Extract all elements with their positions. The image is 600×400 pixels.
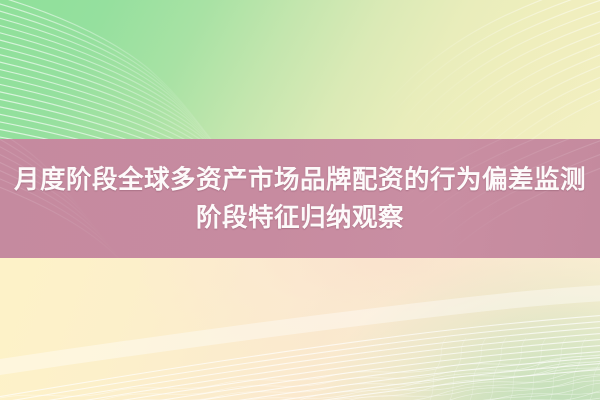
bottom-wave-lines-icon <box>0 258 600 400</box>
decorative-banner: 月度阶段全球多资产市场品牌配资的行为偏差监测 阶段特征归纳观察 <box>0 0 600 400</box>
title-line-2: 阶段特征归纳观察 <box>196 199 404 237</box>
banner-title: 月度阶段全球多资产市场品牌配资的行为偏差监测 阶段特征归纳观察 <box>0 139 600 258</box>
bottom-gradient-band <box>0 258 600 400</box>
green-corner-wash <box>300 258 600 400</box>
title-line-1: 月度阶段全球多资产市场品牌配资的行为偏差监测 <box>14 161 586 199</box>
peach-wash <box>140 258 600 358</box>
top-left-arcs-icon <box>0 0 600 139</box>
top-gradient-band <box>0 0 600 139</box>
